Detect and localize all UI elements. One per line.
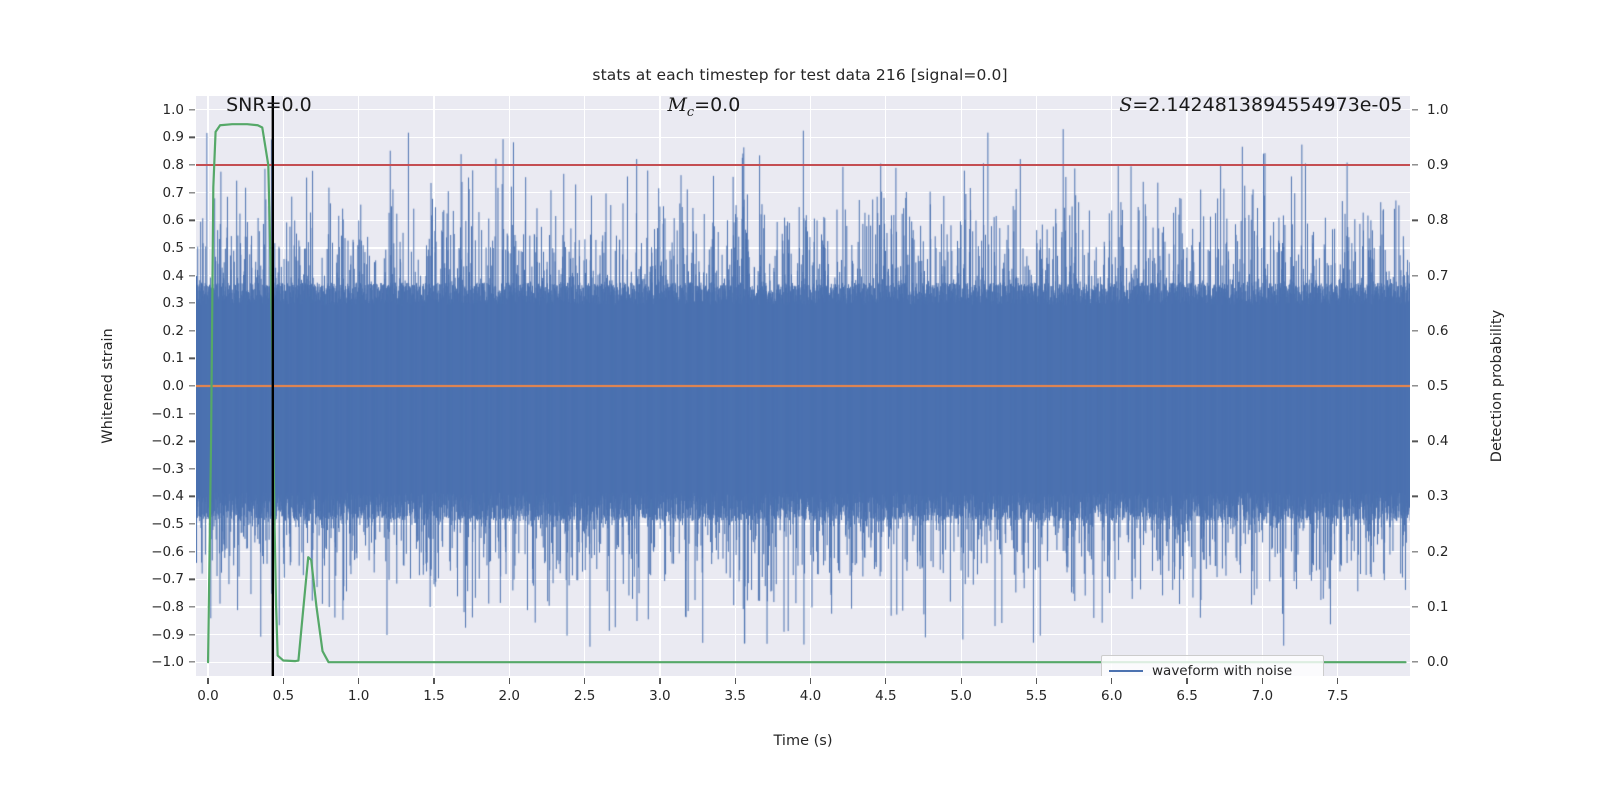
x-tick-label: 3.5 [724, 688, 745, 704]
y-tick-label-left: −0.6 [136, 544, 184, 560]
x-tick-mark [1186, 678, 1187, 684]
y-tick-mark-left [189, 385, 195, 386]
y-tick-mark-left [189, 330, 195, 331]
x-tick-label: 2.0 [499, 688, 520, 704]
y-tick-label-right: 0.6 [1427, 323, 1448, 339]
y-tick-mark-right [1412, 496, 1418, 497]
chirp-mass-equals: = [694, 96, 710, 116]
y-tick-mark-right [1412, 662, 1418, 663]
x-tick-label: 0.0 [197, 688, 218, 704]
statistic-annotation: S=2.1424813894554973e-05 [1119, 96, 1402, 116]
y-tick-mark-left [189, 523, 195, 524]
x-tick-label: 7.0 [1252, 688, 1273, 704]
y-tick-label-left: 0.9 [136, 129, 184, 145]
y-tick-label-left: −0.1 [136, 406, 184, 422]
statistic-equals: = [1132, 96, 1148, 116]
y-tick-label-right: 0.5 [1427, 378, 1448, 394]
y-tick-mark-right [1412, 330, 1418, 331]
legend-item: waveform with noise [1109, 661, 1314, 676]
x-tick-label: 5.5 [1026, 688, 1047, 704]
y-axis-label-right: Detection probability [1489, 310, 1505, 462]
y-tick-label-left: −0.7 [136, 571, 184, 587]
y-tick-mark-right [1412, 164, 1418, 165]
y-tick-label-right: 0.8 [1427, 212, 1448, 228]
snr-annotation: SNR=0.0 [226, 96, 312, 116]
y-tick-label-left: 0.5 [136, 240, 184, 256]
x-tick-mark [433, 678, 434, 684]
y-axis-label-left: Whitened strain [100, 328, 116, 443]
y-tick-mark-left [189, 634, 195, 635]
x-tick-mark [735, 678, 736, 684]
y-tick-label-left: −0.2 [136, 433, 184, 449]
x-tick-mark [961, 678, 962, 684]
snr-label: SNR= [226, 96, 281, 116]
snr-value: 0.0 [282, 96, 312, 116]
statistic-value: 2.1424813894554973e-05 [1148, 96, 1402, 116]
x-tick-label: 4.5 [875, 688, 896, 704]
y-tick-mark-right [1412, 441, 1418, 442]
y-tick-mark-left [189, 302, 195, 303]
y-tick-mark-right [1412, 275, 1418, 276]
x-tick-label: 4.0 [800, 688, 821, 704]
x-tick-mark [207, 678, 208, 684]
y-tick-label-right: 0.1 [1427, 599, 1448, 615]
legend: waveform with noisewaveform without nois… [1101, 655, 1324, 676]
y-tick-mark-left [189, 496, 195, 497]
y-tick-label-left: −0.5 [136, 516, 184, 532]
x-tick-label: 6.0 [1101, 688, 1122, 704]
legend-color-swatch [1109, 670, 1143, 672]
y-tick-label-left: 0.0 [136, 378, 184, 394]
x-tick-mark [1036, 678, 1037, 684]
y-tick-mark-right [1412, 220, 1418, 221]
detection-probability-line [208, 124, 1405, 662]
y-tick-label-left: −1.0 [136, 654, 184, 670]
y-tick-label-left: −0.4 [136, 488, 184, 504]
x-tick-label: 6.5 [1176, 688, 1197, 704]
y-tick-label-right: 0.0 [1427, 654, 1448, 670]
y-tick-label-right: 1.0 [1427, 102, 1448, 118]
y-tick-label-right: 0.2 [1427, 544, 1448, 560]
x-tick-mark [509, 678, 510, 684]
y-tick-mark-left [189, 579, 195, 580]
y-tick-mark-left [189, 413, 195, 414]
y-tick-label-right: 0.9 [1427, 157, 1448, 173]
y-tick-mark-right [1412, 109, 1418, 110]
y-tick-mark-left [189, 192, 195, 193]
y-tick-mark-left [189, 441, 195, 442]
x-axis-label: Time (s) [774, 733, 833, 749]
y-tick-label-left: 0.3 [136, 295, 184, 311]
y-tick-mark-left [189, 662, 195, 663]
x-tick-label: 2.5 [574, 688, 595, 704]
y-tick-mark-left [189, 358, 195, 359]
x-tick-mark [1262, 678, 1263, 684]
x-tick-label: 3.0 [649, 688, 670, 704]
y-tick-label-left: 0.2 [136, 323, 184, 339]
statistic-symbol: S [1119, 96, 1132, 116]
plot-area: SNR=0.0 Mc=0.0 S=2.1424813894554973e-05 … [196, 96, 1410, 676]
y-tick-mark-right [1412, 551, 1418, 552]
x-tick-mark [659, 678, 660, 684]
x-tick-label: 1.0 [348, 688, 369, 704]
y-tick-mark-left [189, 137, 195, 138]
overlay-series-layer [196, 96, 1410, 676]
y-tick-mark-left [189, 220, 195, 221]
y-tick-label-left: 0.7 [136, 185, 184, 201]
y-tick-label-left: 1.0 [136, 102, 184, 118]
y-tick-label-left: 0.4 [136, 268, 184, 284]
y-tick-label-left: −0.3 [136, 461, 184, 477]
y-tick-mark-left [189, 468, 195, 469]
x-tick-label: 1.5 [423, 688, 444, 704]
x-tick-label: 0.5 [273, 688, 294, 704]
y-tick-label-left: 0.6 [136, 212, 184, 228]
x-tick-mark [810, 678, 811, 684]
y-tick-mark-left [189, 247, 195, 248]
x-tick-mark [885, 678, 886, 684]
x-tick-label: 7.5 [1327, 688, 1348, 704]
x-tick-mark [1337, 678, 1338, 684]
y-tick-label-right: 0.4 [1427, 433, 1448, 449]
x-tick-label: 5.0 [950, 688, 971, 704]
x-tick-mark [584, 678, 585, 684]
y-tick-label-right: 0.3 [1427, 488, 1448, 504]
y-tick-mark-right [1412, 606, 1418, 607]
legend-item-label: waveform with noise [1152, 663, 1292, 676]
matplotlib-figure: stats at each timestep for test data 216… [0, 0, 1600, 800]
y-tick-mark-left [189, 275, 195, 276]
y-tick-mark-left [189, 164, 195, 165]
y-tick-label-left: 0.1 [136, 350, 184, 366]
y-tick-label-left: 0.8 [136, 157, 184, 173]
y-tick-label-right: 0.7 [1427, 268, 1448, 284]
y-tick-mark-left [189, 109, 195, 110]
x-tick-mark [1111, 678, 1112, 684]
page-title: stats at each timestep for test data 216… [0, 66, 1600, 84]
x-tick-mark [358, 678, 359, 684]
x-tick-mark [283, 678, 284, 684]
chirp-mass-value: 0.0 [710, 96, 740, 116]
y-tick-label-left: −0.8 [136, 599, 184, 615]
y-tick-mark-left [189, 551, 195, 552]
chirp-mass-symbol: M [667, 96, 686, 116]
chirp-mass-annotation: Mc=0.0 [667, 96, 740, 120]
y-tick-mark-right [1412, 385, 1418, 386]
y-tick-mark-left [189, 606, 195, 607]
y-tick-label-left: −0.9 [136, 627, 184, 643]
